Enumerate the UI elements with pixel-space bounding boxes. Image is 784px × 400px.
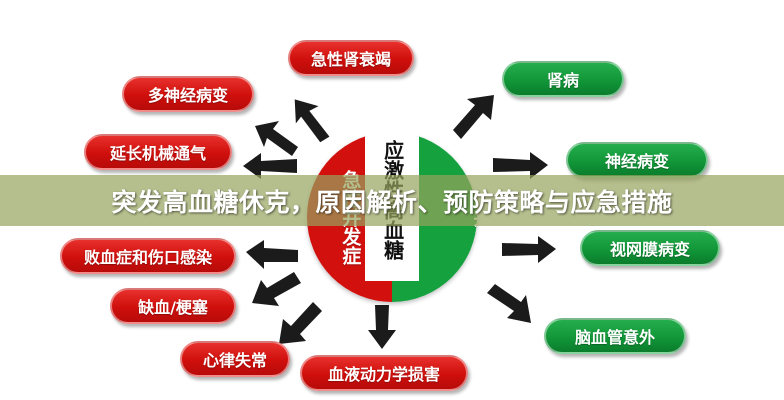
node-nephropathy[interactable]: 肾病 xyxy=(502,61,624,97)
node-neuropathy[interactable]: 神经病变 xyxy=(566,142,708,178)
node-label: 缺血/梗塞 xyxy=(138,294,208,318)
arrow-to-sepsis-wound-infection xyxy=(244,238,300,270)
infographic-canvas: 急性并发症 慢性并发症 应激性高血糖 急性肾衰竭 多神经病变 延长机械通气 败血… xyxy=(0,0,784,400)
arrow-to-arrhythmia xyxy=(276,300,324,348)
node-label: 神经病变 xyxy=(605,148,669,172)
node-label: 急性肾衰竭 xyxy=(311,46,391,70)
arrow-to-hemodynamic-damage xyxy=(366,303,398,351)
node-arrhythmia[interactable]: 心律失常 xyxy=(180,341,290,377)
node-sepsis-wound-infection[interactable]: 败血症和伤口感染 xyxy=(60,238,236,274)
node-label: 血液动力学损害 xyxy=(328,361,440,385)
node-label: 多神经病变 xyxy=(148,82,228,106)
arrow-to-polyneuropathy xyxy=(252,118,300,160)
node-label: 脑血管意外 xyxy=(575,324,655,348)
node-acute-renal-failure[interactable]: 急性肾衰竭 xyxy=(288,40,414,76)
node-hemodynamic-damage[interactable]: 血液动力学损害 xyxy=(300,355,468,391)
arrow-to-retinopathy xyxy=(500,233,558,265)
node-label: 败血症和伤口感染 xyxy=(84,244,212,268)
banner-title: 突发高血糖休克，原因解析、预防策略与应急措施 xyxy=(111,183,672,219)
node-retinopathy[interactable]: 视网膜病变 xyxy=(580,230,720,266)
node-label: 心律失常 xyxy=(203,347,267,371)
node-label: 肾病 xyxy=(547,67,579,91)
node-ischemia-infarction[interactable]: 缺血/梗塞 xyxy=(110,288,236,324)
arrow-to-cerebrovascular xyxy=(484,283,534,327)
node-cerebrovascular[interactable]: 脑血管意外 xyxy=(544,318,686,354)
title-banner: 突发高血糖休克，原因解析、预防策略与应急措施 xyxy=(0,175,784,226)
node-label: 延长机械通气 xyxy=(110,140,206,164)
node-label: 视网膜病变 xyxy=(610,236,690,260)
arrow-to-ischemia-infarction xyxy=(250,270,302,312)
node-polyneuropathy[interactable]: 多神经病变 xyxy=(122,76,254,112)
node-prolonged-ventilation[interactable]: 延长机械通气 xyxy=(84,134,232,170)
